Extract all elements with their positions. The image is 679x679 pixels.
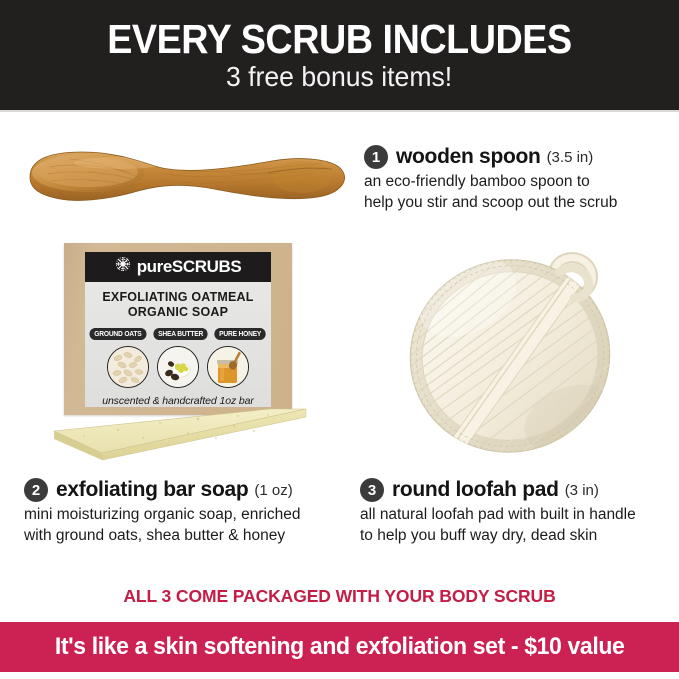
- wooden-spoon-photo: [10, 143, 355, 211]
- item-1-size: (3.5 in): [547, 149, 594, 166]
- soap-label-panel: pureSCRUBS EXFOLIATING OATMEAL ORGANIC S…: [85, 252, 271, 407]
- item-1-caption: 1 wooden spoon (3.5 in) an eco-friendly …: [364, 145, 617, 214]
- item-3-size: (3 in): [565, 482, 599, 499]
- ingredient-pill-shea: SHEA BUTTER: [154, 328, 208, 340]
- header-banner: EVERY SCRUB INCLUDES 3 free bonus items!: [0, 0, 679, 110]
- ingredient-pill-oats: GROUND OATS: [90, 328, 147, 340]
- soap-box-photo: pureSCRUBS EXFOLIATING OATMEAL ORGANIC S…: [48, 243, 310, 463]
- soap-brand-bar: pureSCRUBS: [85, 252, 271, 282]
- page-subtitle: 3 free bonus items!: [226, 63, 452, 91]
- item-2-title: exfoliating bar soap: [56, 478, 248, 502]
- oats-photo-icon: [107, 346, 149, 388]
- item-2-caption: 2 exfoliating bar soap (1 oz) mini moist…: [24, 478, 301, 547]
- soap-brand-name: pureSCRUBS: [137, 257, 242, 277]
- item-1-number-badge: 1: [364, 145, 388, 169]
- header-divider: [0, 110, 679, 112]
- footer-banner-text: It's like a skin softening and exfoliati…: [55, 633, 625, 661]
- item-2-heading: 2 exfoliating bar soap (1 oz): [24, 478, 301, 502]
- item-1-description-line2: help you stir and scoop out the scrub: [364, 193, 617, 214]
- ingredient-icon-row: [107, 346, 249, 388]
- honey-jar-photo-icon: [207, 346, 249, 388]
- loofah-pad-photo: [398, 238, 630, 464]
- item-2-description-line1: mini moisturizing organic soap, enriched: [24, 505, 301, 526]
- item-3-heading: 3 round loofah pad (3 in): [360, 478, 636, 502]
- item-2-number-badge: 2: [24, 478, 48, 502]
- item-2-size: (1 oz): [254, 482, 292, 499]
- item-1-title: wooden spoon: [396, 145, 541, 169]
- footer-value-banner: It's like a skin softening and exfoliati…: [0, 622, 679, 672]
- item-3-number-badge: 3: [360, 478, 384, 502]
- item-1-heading: 1 wooden spoon (3.5 in): [364, 145, 617, 169]
- item-2-description-line2: with ground oats, shea butter & honey: [24, 526, 301, 547]
- page-title: EVERY SCRUB INCLUDES: [107, 19, 571, 60]
- shea-butter-photo-icon: [157, 346, 199, 388]
- ingredient-pill-row: GROUND OATS SHEA BUTTER PURE HONEY: [88, 328, 267, 340]
- soap-bar-photo: [48, 400, 310, 462]
- mandala-logo-icon: [115, 256, 131, 277]
- item-3-description-line2: to help you buff way dry, dead skin: [360, 526, 636, 547]
- footer-note: ALL 3 COME PACKAGED WITH YOUR BODY SCRUB: [0, 586, 679, 607]
- soap-kraft-box: pureSCRUBS EXFOLIATING OATMEAL ORGANIC S…: [64, 243, 292, 415]
- item-3-caption: 3 round loofah pad (3 in) all natural lo…: [360, 478, 636, 547]
- item-3-description-line1: all natural loofah pad with built in han…: [360, 505, 636, 526]
- item-3-title: round loofah pad: [392, 478, 559, 502]
- soap-label-title-line2: ORGANIC SOAP: [128, 305, 228, 321]
- item-1-description-line1: an eco-friendly bamboo spoon to: [364, 172, 617, 193]
- soap-label-title-line1: EXFOLIATING OATMEAL: [102, 290, 253, 306]
- ingredient-pill-honey: PURE HONEY: [215, 328, 267, 340]
